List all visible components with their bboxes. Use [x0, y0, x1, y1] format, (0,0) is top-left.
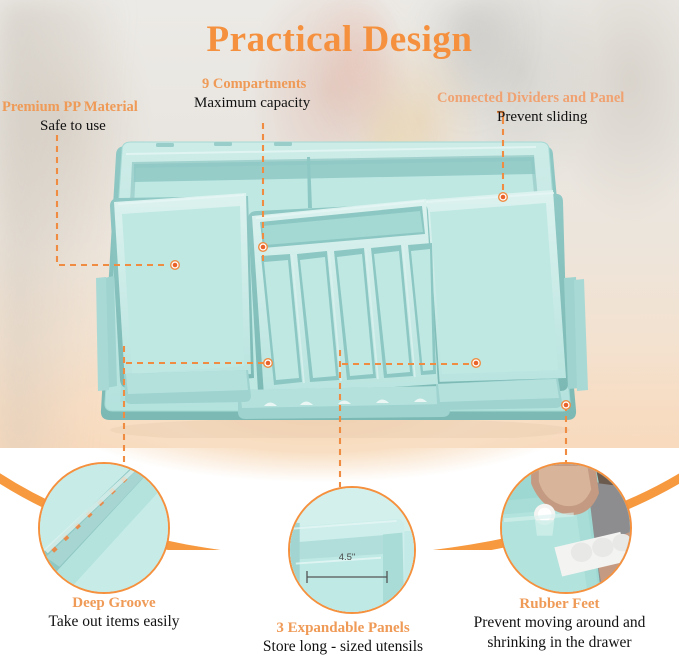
callout-connected-dividers-panel: Connected Dividers and Panel Prevent sli… [437, 90, 624, 126]
callout-connected-sub: Prevent sliding [497, 109, 624, 126]
expandable-panels-head: 3 Expandable Panels [222, 620, 464, 637]
callout-dot-group [171, 193, 571, 410]
feature-circle-deep-groove [38, 462, 170, 594]
callout-9-compartments: 9 Compartments Maximum capacity [202, 76, 310, 112]
callout-compartments-sub: Maximum capacity [194, 95, 310, 112]
feature-circle-rubber-feet [500, 462, 632, 594]
rubber-feet-closeup [502, 464, 630, 592]
callout-premium-sub: Safe to use [40, 118, 138, 135]
dimension-annotation: 4.5" [304, 554, 390, 580]
callout-compartments-head: 9 Compartments [202, 76, 310, 93]
connector-premium [57, 135, 168, 265]
feature-label-rubber-feet: Rubber Feet Prevent moving around and sh… [440, 596, 679, 653]
expandable-panel-closeup [290, 488, 414, 612]
feature-label-deep-groove: Deep Groove Take out items easily [0, 595, 228, 632]
dimension-value: 4.5" [304, 552, 390, 563]
rubber-feet-sub-line2: shrinking in the drawer [440, 633, 679, 653]
callout-premium-head: Premium PP Material [2, 99, 138, 116]
rubber-feet-head: Rubber Feet [440, 596, 679, 613]
feature-label-expandable-panels: 3 Expandable Panels Store long - sized u… [222, 620, 464, 657]
dimension-arrow [304, 564, 390, 590]
feature-circle-expandable-panels: 4.5" [288, 486, 416, 614]
callout-premium-pp-material: Premium PP Material Safe to use [2, 99, 138, 135]
deep-groove-closeup [40, 464, 168, 592]
callout-connected-head: Connected Dividers and Panel [437, 90, 624, 107]
deep-groove-sub: Take out items easily [0, 612, 228, 632]
infographic-canvas: Practical Design [0, 0, 679, 670]
deep-groove-head: Deep Groove [0, 595, 228, 612]
rubber-feet-sub-line1: Prevent moving around and [440, 613, 679, 633]
expandable-panels-sub: Store long - sized utensils [222, 637, 464, 657]
